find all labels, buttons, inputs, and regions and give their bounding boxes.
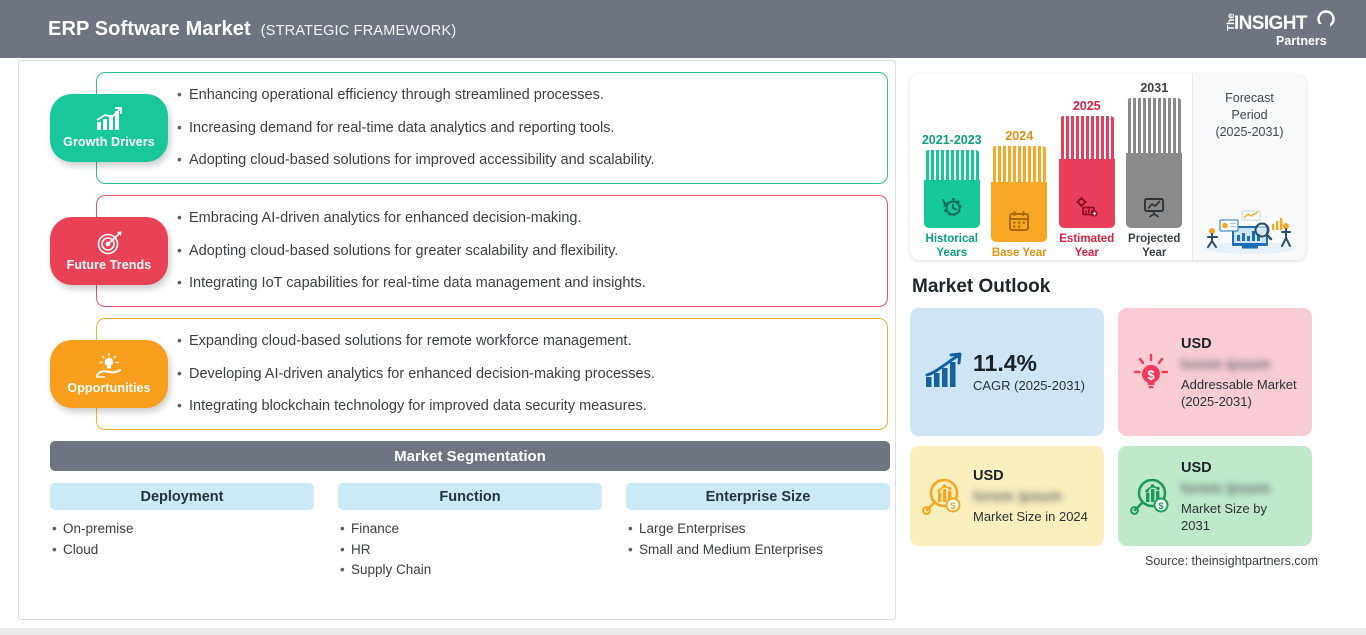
bar-caption: Projected Year	[1123, 233, 1185, 260]
lightbulb-hand-icon	[94, 353, 124, 379]
insight-partners-logo[interactable]: The INSIGHT Partners	[1218, 7, 1342, 51]
bullet-item: Adopting cloud-based solutions for impro…	[177, 151, 873, 169]
data-analysis-illustration	[1198, 202, 1302, 254]
header-title-group: ERP Software Market (STRATEGIC FRAMEWORK…	[48, 18, 456, 41]
market-outlook-cards: 11.4% CAGR (2025-2031) $ USD lorem ip	[910, 308, 1320, 546]
bar-year-label: 2031	[1140, 81, 1168, 95]
section-future-trends: Embracing AI-driven analytics for enhanc…	[50, 195, 900, 307]
outlook-card-text: USD lorem ipsum Addressable Market (2025…	[1181, 335, 1299, 410]
bar-stripe-top	[991, 146, 1047, 182]
segmentation-column-enterprise-size: Enterprise Size Large Enterprises Small …	[626, 483, 890, 581]
segmentation-header: Deployment	[50, 483, 314, 510]
bar-group-estimated: 2025	[1056, 99, 1118, 260]
lightbulb-dollar-icon: $	[1130, 351, 1172, 393]
bar-chart-growth-icon	[94, 107, 124, 133]
page-subtitle: (STRATEGIC FRAMEWORK)	[261, 23, 457, 39]
list-item: Small and Medium Enterprises	[628, 540, 890, 561]
bar-caption: Historical Years	[921, 233, 983, 260]
logo-partners-text: Partners	[1276, 34, 1327, 48]
logo-icon: The INSIGHT Partners	[1218, 7, 1342, 51]
forecast-line-1: Forecast	[1225, 90, 1274, 107]
section-opportunities: Expanding cloud-based solutions for remo…	[50, 318, 900, 430]
page-header: ERP Software Market (STRATEGIC FRAMEWORK…	[0, 0, 1366, 58]
source-attribution: Source: theinsightpartners.com	[910, 554, 1320, 568]
bar-year-label: 2024	[1005, 129, 1033, 143]
bar-stripe-top	[924, 150, 980, 180]
bullet-item: Adopting cloud-based solutions for great…	[177, 242, 873, 260]
blurred-value: lorem ipsum	[1181, 355, 1299, 375]
gear-analytics-icon	[1075, 195, 1099, 219]
list-item: Supply Chain	[340, 560, 602, 581]
svg-text:$: $	[1147, 368, 1155, 383]
badge-label: Future Trends	[67, 258, 152, 272]
segmentation-list: On-premise Cloud	[50, 519, 314, 560]
bar-group-base: 2024	[988, 129, 1050, 261]
bullet-item: Embracing AI-driven analytics for enhanc…	[177, 209, 873, 227]
card-caption: Market Size in 2024	[973, 508, 1088, 525]
infographic-page: ERP Software Market (STRATEGIC FRAMEWORK…	[0, 0, 1366, 635]
segmentation-list: Large Enterprises Small and Medium Enter…	[626, 519, 890, 560]
logo-insight-text: INSIGHT	[1234, 13, 1308, 34]
growth-drivers-box: Enhancing operational efficiency through…	[96, 72, 888, 184]
bar-stripe-top	[1059, 116, 1115, 159]
outlook-card-text: USD lorem ipsum Market Size by 2031	[1181, 459, 1299, 534]
bar-estimated	[1059, 116, 1115, 228]
cagr-caption: CAGR (2025-2031)	[973, 377, 1085, 394]
svg-text:$: $	[950, 501, 956, 512]
segmentation-list: Finance HR Supply Chain	[338, 519, 602, 581]
market-segmentation: Market Segmentation Deployment On-premis…	[50, 441, 890, 581]
forecast-line-2: Period	[1231, 107, 1267, 124]
section-growth-drivers: Enhancing operational efficiency through…	[50, 72, 900, 184]
list-item: Cloud	[52, 540, 314, 561]
currency-unit: USD	[1181, 335, 1299, 354]
bullet-item: Expanding cloud-based solutions for remo…	[177, 332, 873, 350]
list-item: Finance	[340, 519, 602, 540]
segmentation-header: Function	[338, 483, 602, 510]
blurred-value: lorem ipsum	[973, 487, 1088, 507]
list-item: On-premise	[52, 519, 314, 540]
page-body: Enhancing operational efficiency through…	[0, 58, 1366, 635]
badge-label: Growth Drivers	[63, 135, 155, 149]
bar-base	[991, 146, 1047, 242]
right-column: 2021-2023 Historical Years	[900, 58, 1366, 635]
outlook-card-text: USD lorem ipsum Market Size in 2024	[973, 467, 1088, 525]
bar-historical	[924, 150, 980, 228]
timeline-bars: 2021-2023 Historical Years	[910, 74, 1192, 260]
bar-projected	[1126, 98, 1182, 228]
cagr-value: 11.4%	[973, 350, 1085, 376]
opportunities-badge[interactable]: Opportunities	[50, 340, 168, 408]
left-column: Enhancing operational efficiency through…	[0, 58, 900, 635]
future-trends-box: Embracing AI-driven analytics for enhanc…	[96, 195, 888, 307]
bar-caption: Estimated Year	[1056, 233, 1118, 260]
bar-year-label: 2021-2023	[922, 133, 982, 147]
bar-chart-arrow-icon	[922, 351, 964, 393]
badge-label: Opportunities	[67, 381, 150, 395]
market-outlook-title: Market Outlook	[912, 276, 1320, 298]
page-title: ERP Software Market	[48, 18, 251, 41]
segmentation-columns: Deployment On-premise Cloud Function Fin…	[50, 483, 890, 581]
forecast-line-3: (2025-2031)	[1215, 124, 1283, 141]
blurred-value: lorem ipsum	[1181, 479, 1299, 499]
magnifier-chart-dollar-icon: $	[1130, 475, 1172, 517]
bar-stripe-top	[1126, 98, 1182, 153]
svg-text:$: $	[1158, 501, 1164, 512]
bar-group-projected: 2031 Projected Year	[1123, 81, 1185, 260]
bullet-item: Increasing demand for real-time data ana…	[177, 119, 873, 137]
card-caption: Market Size by 2031	[1181, 500, 1299, 534]
segmentation-title-bar: Market Segmentation	[50, 441, 890, 471]
outlook-card-market-size-2024[interactable]: $ USD lorem ipsum Market Size in 2024	[910, 446, 1104, 546]
currency-unit: USD	[973, 467, 1088, 486]
list-item: Large Enterprises	[628, 519, 890, 540]
calendar-icon	[1007, 209, 1031, 233]
outlook-card-market-size-2031[interactable]: $ USD lorem ipsum Market Size by 2031	[1118, 446, 1312, 546]
segmentation-title: Market Segmentation	[394, 448, 546, 465]
bar-group-historical: 2021-2023 Historical Years	[921, 133, 983, 260]
bar-caption: Base Year	[992, 247, 1047, 261]
outlook-card-addressable-market[interactable]: $ USD lorem ipsum Addressable Market (20…	[1118, 308, 1312, 436]
opportunities-box: Expanding cloud-based solutions for remo…	[96, 318, 888, 430]
growth-drivers-badge[interactable]: Growth Drivers	[50, 94, 168, 162]
bullet-item: Integrating IoT capabilities for real-ti…	[177, 274, 873, 292]
segmentation-column-deployment: Deployment On-premise Cloud	[50, 483, 314, 581]
card-caption: Addressable Market (2025-2031)	[1181, 376, 1299, 410]
study-period-chart: 2021-2023 Historical Years	[910, 74, 1306, 260]
segmentation-column-function: Function Finance HR Supply Chain	[338, 483, 602, 581]
bar-year-label: 2025	[1073, 99, 1101, 113]
presentation-chart-icon	[1142, 195, 1166, 219]
logo-circle-mask	[1318, 24, 1330, 28]
list-item: HR	[340, 540, 602, 561]
bullet-item: Integrating blockchain technology for im…	[177, 397, 873, 415]
bullet-item: Enhancing operational efficiency through…	[177, 86, 873, 104]
outlook-card-text: 11.4% CAGR (2025-2031)	[973, 350, 1085, 394]
target-dart-icon	[94, 230, 124, 256]
currency-unit: USD	[1181, 459, 1299, 478]
magnifier-chart-dollar-icon: $	[922, 475, 964, 517]
bullet-item: Developing AI-driven analytics for enhan…	[177, 365, 873, 383]
future-trends-badge[interactable]: Future Trends	[50, 217, 168, 285]
segmentation-header: Enterprise Size	[626, 483, 890, 510]
clock-history-icon	[940, 195, 964, 219]
outlook-card-cagr[interactable]: 11.4% CAGR (2025-2031)	[910, 308, 1104, 436]
bottom-strip	[0, 628, 1366, 635]
forecast-period-panel: Forecast Period (2025-2031)	[1192, 74, 1306, 260]
